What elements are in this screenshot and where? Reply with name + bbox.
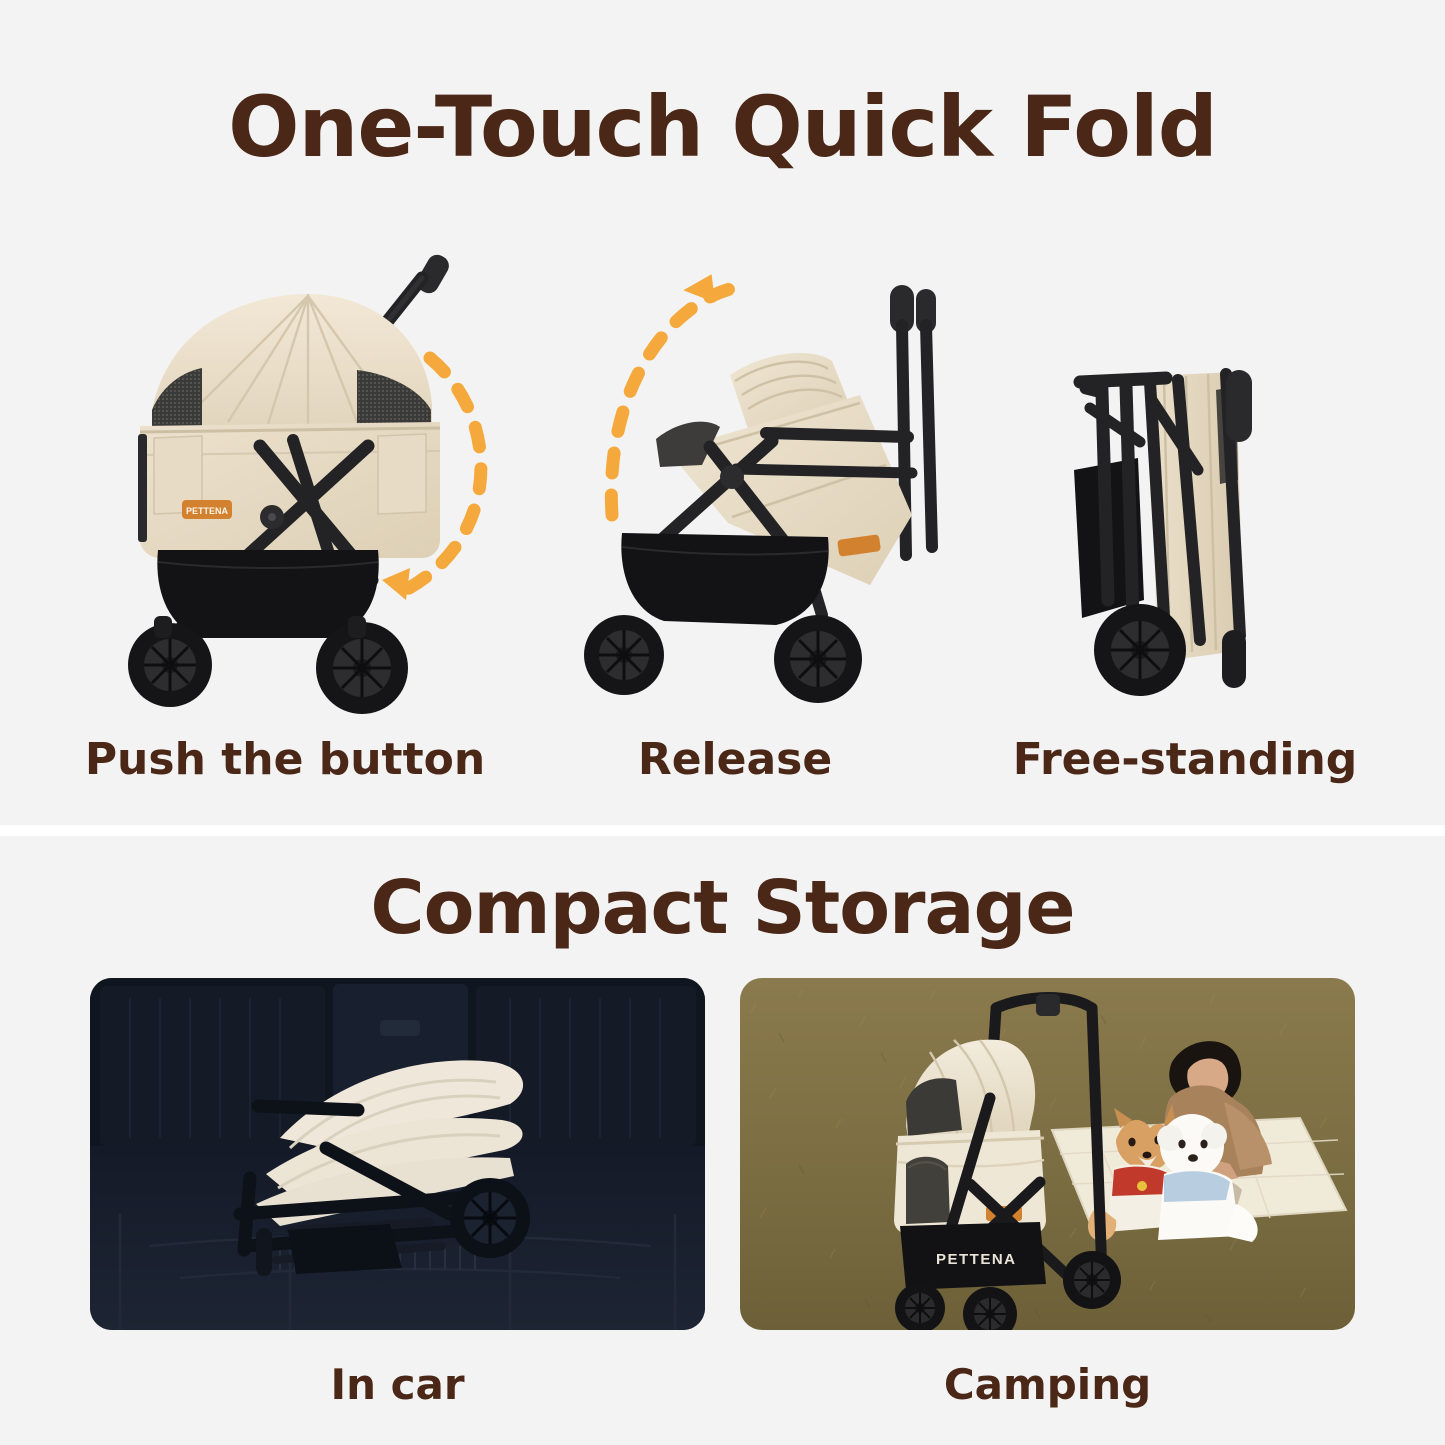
stroller-releasing-illustration: [560, 255, 970, 715]
step-figure-folded-stroller: [1030, 350, 1330, 715]
svg-text:PETTENA: PETTENA: [936, 1251, 1017, 1268]
quick-fold-title: One-Touch Quick Fold: [0, 82, 1445, 172]
trunk-stroller-wheel: [450, 1178, 530, 1258]
step-figure-open-stroller: PETTENA: [110, 250, 510, 715]
photo-camping: PETTENA: [740, 978, 1355, 1330]
stroller-basket: PETTENA: [900, 1222, 1046, 1290]
caption-push-the-button: Push the button: [60, 735, 510, 785]
compact-storage-title: Compact Storage: [0, 868, 1445, 948]
section-divider: [0, 825, 1445, 836]
svg-text:PETTENA: PETTENA: [186, 506, 229, 516]
support-foot: [1222, 630, 1246, 688]
handle-fold-button: [1036, 994, 1060, 1016]
caption-free-standing: Free-standing: [960, 735, 1410, 785]
seat-panel-left: [100, 986, 325, 1146]
under-storage-basket: [157, 550, 378, 638]
photo-in-car: [90, 978, 705, 1330]
caption-in-car: In car: [90, 1360, 705, 1410]
seat-latch: [380, 1020, 420, 1036]
step-figure-releasing-stroller: [560, 255, 970, 715]
caption-release: Release: [520, 735, 950, 785]
car-trunk-scene: [90, 978, 705, 1330]
quick-fold-section: One-Touch Quick Fold: [0, 0, 1445, 825]
stroller-open-illustration: PETTENA: [110, 250, 510, 715]
camping-scene: PETTENA: [740, 978, 1355, 1330]
caption-camping: Camping: [740, 1360, 1355, 1410]
brand-label: PETTENA: [182, 500, 232, 519]
wheel: [1094, 604, 1186, 696]
under-storage-basket: [621, 533, 828, 625]
handle-cap: [1226, 370, 1252, 442]
product-infographic: One-Touch Quick Fold: [0, 0, 1445, 1445]
stroller-folded-illustration: [1030, 350, 1330, 715]
wheels: [584, 615, 862, 703]
